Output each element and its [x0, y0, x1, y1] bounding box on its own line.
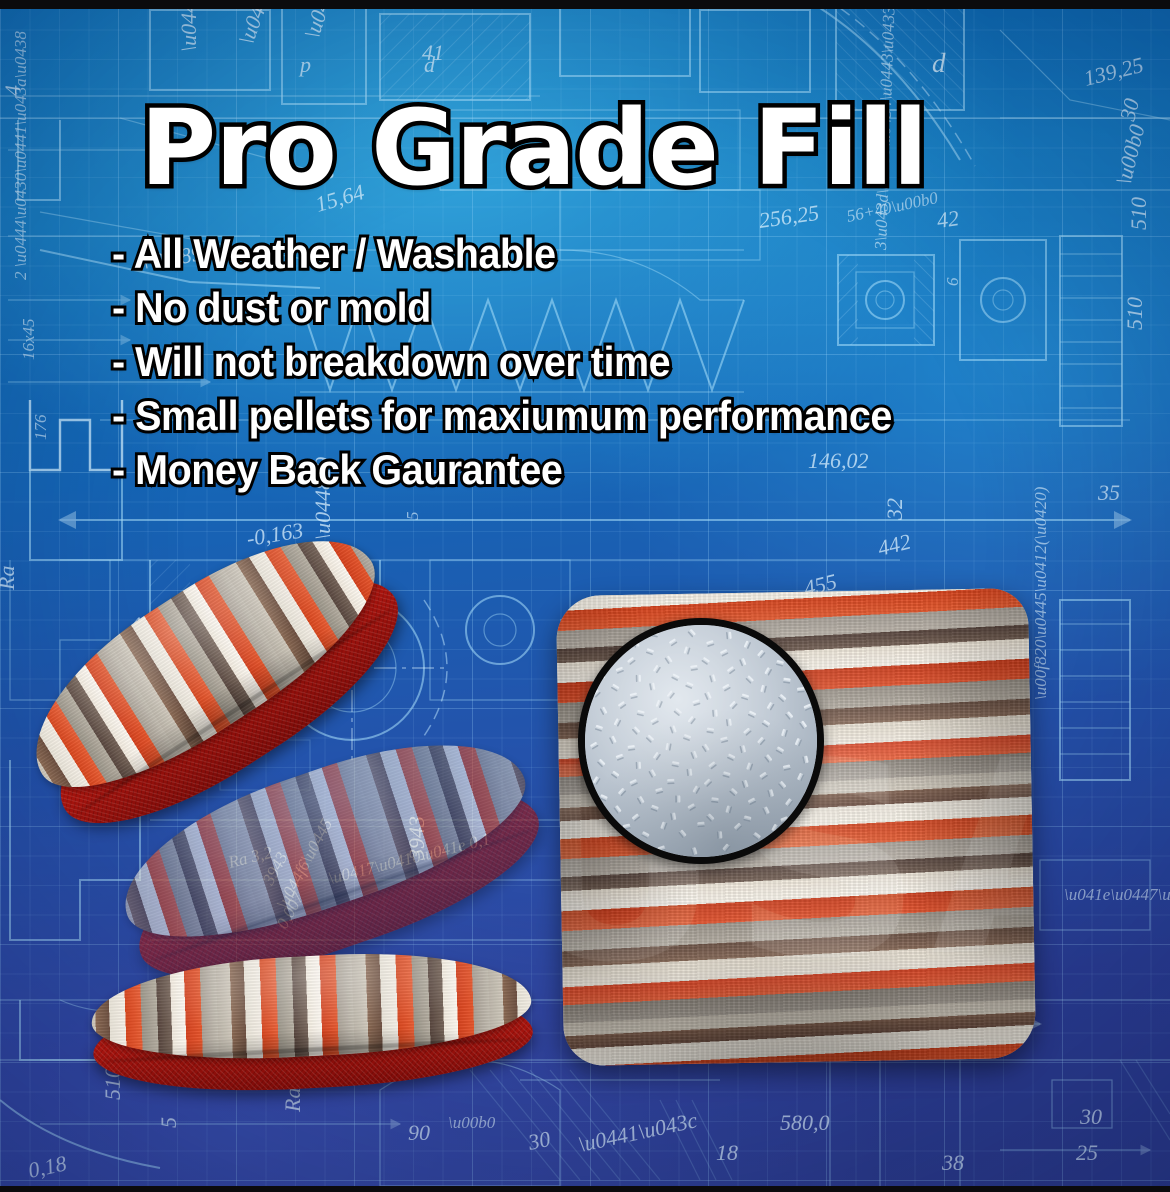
svg-text:0,18: 0,18 — [26, 1150, 69, 1182]
svg-text:\u00b0: \u00b0 — [448, 1113, 496, 1132]
svg-text:510: 510 — [1126, 197, 1151, 230]
svg-text:30: 30 — [1079, 1104, 1102, 1129]
svg-text:510: 510 — [1122, 297, 1147, 330]
feature-item: - All Weather / Washable — [112, 233, 1014, 275]
svg-text:5: 5 — [156, 1117, 181, 1128]
svg-text:d: d — [932, 48, 946, 78]
letterbox-bar-top — [0, 0, 1170, 9]
svg-text:\u00f820\u0445\u0412(\u0420): \u00f820\u0445\u0412(\u0420) — [1031, 486, 1050, 700]
svg-text:90: 90 — [408, 1120, 430, 1145]
svg-text:18: 18 — [716, 1140, 738, 1165]
svg-text:41: 41 — [422, 40, 444, 65]
svg-text:176: 176 — [31, 414, 50, 440]
pellet-lighting — [585, 625, 817, 857]
svg-text:442: 442 — [875, 529, 913, 561]
svg-text:p: p — [298, 52, 311, 77]
svg-text:35: 35 — [1097, 480, 1120, 505]
svg-text:\u00b0: \u00b0 — [1111, 122, 1150, 187]
letterbox-bar-bottom — [0, 1186, 1170, 1192]
svg-text:42: 42 — [935, 205, 960, 233]
svg-text:5: 5 — [403, 512, 422, 521]
svg-text:580,0: 580,0 — [780, 1110, 830, 1135]
page-title: Pro Grade Fill — [140, 96, 927, 200]
svg-text:16x45: 16x45 — [19, 318, 38, 360]
svg-text:25: 25 — [1076, 1140, 1098, 1165]
svg-text:30: 30 — [1114, 96, 1144, 124]
feature-item: - Will not breakdown over time — [112, 341, 1014, 383]
svg-text:\u041e\u0447\u0438\u043d\u043e: \u041e\u0447\u0438\u043d\u043e — [1064, 885, 1170, 904]
pellet-closeup-circle — [578, 618, 824, 864]
feature-list: - All Weather / Washable - No dust or mo… — [112, 233, 1072, 503]
feature-item: - Small pellets for maxiumum performance — [112, 395, 1014, 437]
svg-text:2 \u0444\u0430\u0441\u043a\u04: 2 \u0444\u0430\u0441\u043a\u0438 — [11, 31, 30, 280]
poster-canvas: .ln{fill:none;stroke:#a9e0fb;stroke-widt… — [0, 0, 1170, 1192]
feature-item: - No dust or mold — [112, 287, 1014, 329]
bag-side-lower — [89, 945, 535, 1100]
feature-item: - Money Back Gaurantee — [112, 449, 1014, 491]
svg-text:139,25: 139,25 — [1081, 52, 1146, 91]
